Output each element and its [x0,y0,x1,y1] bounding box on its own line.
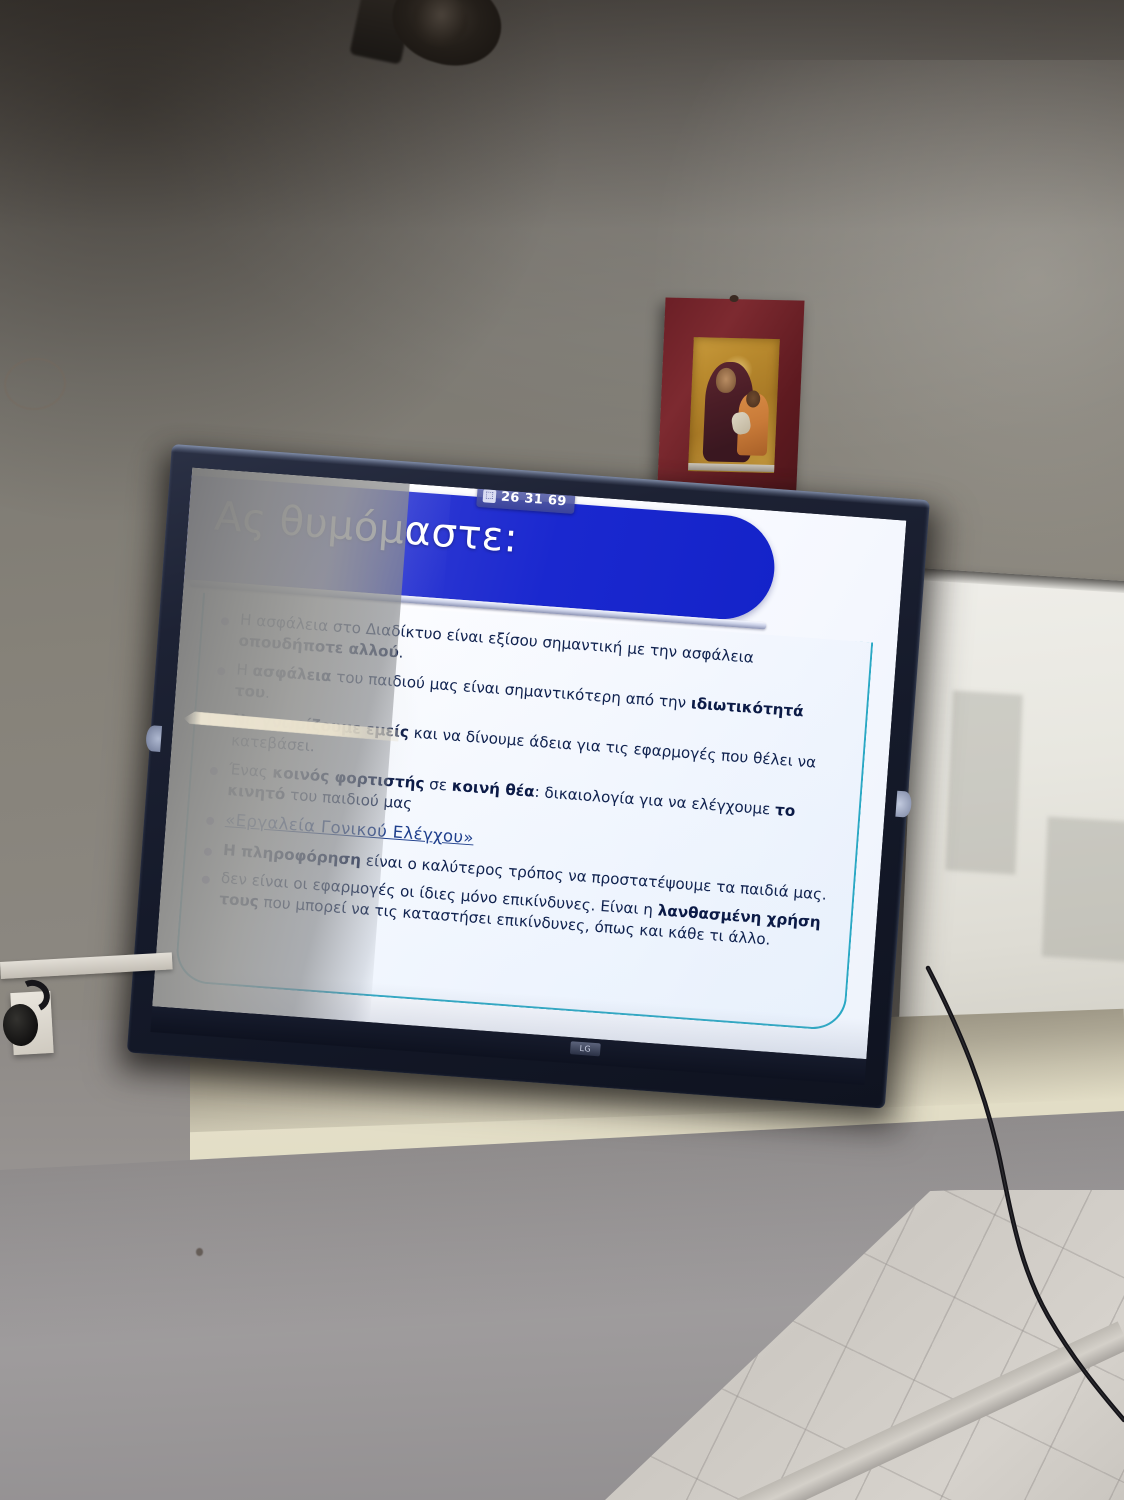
icon-gold-panel [688,337,780,473]
wall-corner-shadow [0,0,560,520]
tv-screen[interactable]: Ας θυμόμαστε: ⬚ 26 31 69 Η ασφάλεια στο … [152,468,906,1060]
screen-reflection-panel [152,468,409,1023]
photo-scene: Ας θυμόμαστε: ⬚ 26 31 69 Η ασφάλεια στο … [0,0,1124,1500]
wall-nail-hole [196,1248,203,1256]
whiteboard-smudge [1042,817,1124,963]
whiteboard-smudge [945,690,1022,874]
left-bezel-handle [145,725,162,752]
lg-brand-logo: LG [570,1041,601,1056]
wall-mounted-tv[interactable]: Ας θυμόμαστε: ⬚ 26 31 69 Η ασφάλεια στο … [127,444,930,1109]
orthodox-icon-frame [656,297,804,509]
icon-hanging-nail [729,295,738,302]
